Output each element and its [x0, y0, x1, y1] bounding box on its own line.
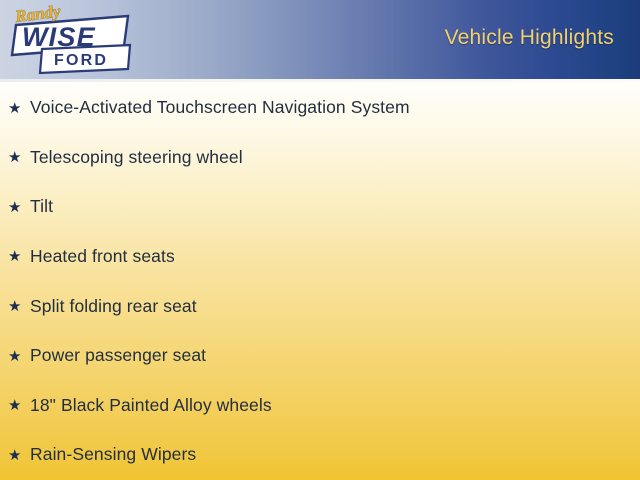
star-bullet-icon: ★ [8, 299, 30, 314]
highlight-item: ★Tilt [8, 194, 53, 220]
highlight-label: Heated front seats [30, 248, 175, 266]
page-title: Vehicle Highlights [445, 26, 614, 50]
highlight-item: ★Voice-Activated Touchscreen Navigation … [8, 95, 410, 121]
star-bullet-icon: ★ [8, 249, 30, 264]
highlight-item: ★Rain-Sensing Wipers [8, 442, 196, 468]
star-bullet-icon: ★ [8, 200, 30, 215]
star-bullet-icon: ★ [8, 349, 30, 364]
vehicle-highlights-slide: WISE FORD Randy Vehicle Highlights ★Voic… [0, 0, 640, 480]
svg-text:FORD: FORD [54, 52, 108, 69]
highlight-item: ★Split folding rear seat [8, 293, 197, 319]
highlight-item: ★Power passenger seat [8, 343, 206, 369]
highlight-label: Tilt [30, 198, 53, 216]
highlight-label: Split folding rear seat [30, 298, 197, 316]
highlight-label: Rain-Sensing Wipers [30, 446, 196, 464]
star-bullet-icon: ★ [8, 448, 30, 463]
highlight-item: ★18" Black Painted Alloy wheels [8, 393, 272, 419]
highlight-item: ★Telescoping steering wheel [8, 145, 243, 171]
highlight-label: 18" Black Painted Alloy wheels [30, 397, 272, 415]
highlight-label: Telescoping steering wheel [30, 149, 243, 167]
highlight-item: ★Heated front seats [8, 244, 175, 270]
highlight-label: Voice-Activated Touchscreen Navigation S… [30, 99, 410, 117]
randy-wise-ford-logo: WISE FORD Randy [2, 1, 138, 83]
highlights-panel: ★Voice-Activated Touchscreen Navigation … [0, 82, 640, 480]
star-bullet-icon: ★ [8, 398, 30, 413]
header-bar: WISE FORD Randy Vehicle Highlights [0, 0, 640, 79]
star-bullet-icon: ★ [8, 101, 30, 116]
star-bullet-icon: ★ [8, 150, 30, 165]
highlight-label: Power passenger seat [30, 347, 206, 365]
